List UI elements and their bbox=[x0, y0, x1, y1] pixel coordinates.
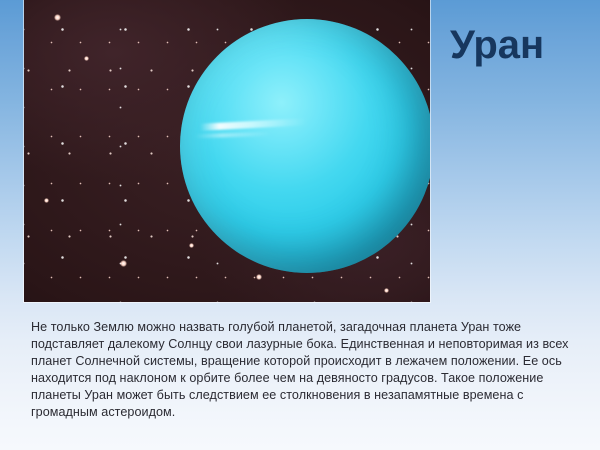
presentation-slide: Уран Не только Землю можно назвать голуб… bbox=[0, 0, 600, 450]
slide-body-text: Не только Землю можно назвать голубой пл… bbox=[31, 319, 576, 422]
uranus-rings-front bbox=[24, 0, 430, 302]
uranus-photo bbox=[24, 0, 430, 302]
slide-title: Уран bbox=[450, 24, 544, 66]
body-paragraph: Не только Землю можно назвать голубой пл… bbox=[31, 319, 576, 422]
